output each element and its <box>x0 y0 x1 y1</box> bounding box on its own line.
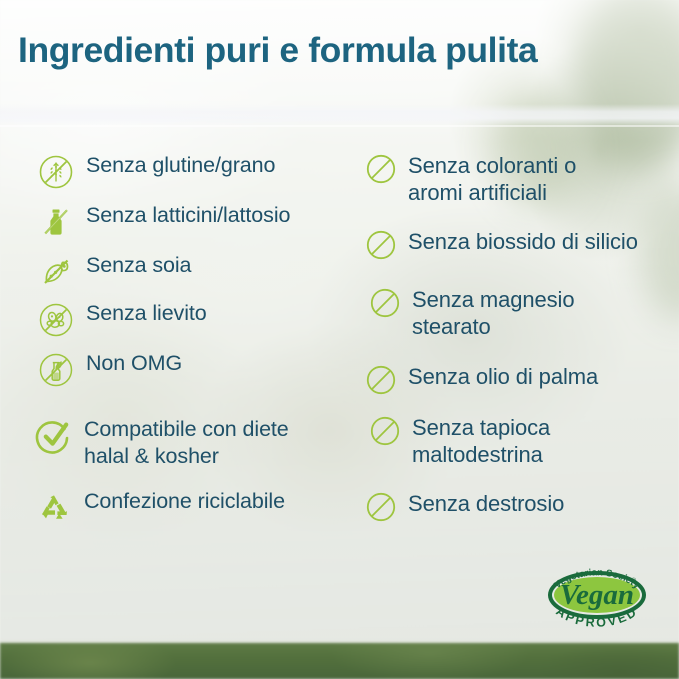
feature-label: Confezione riciclabile <box>84 488 285 515</box>
feature-label: Senza destrosio <box>408 490 564 517</box>
feature-row: Senza tapioca maltodestrina <box>368 414 550 468</box>
feature-row: Senza olio di palma <box>364 363 598 397</box>
feature-label: Senza coloranti o aromi artificiali <box>408 152 576 206</box>
badge-vegan-wordmark: Vegan <box>560 579 634 611</box>
feature-row: Compatibile con diete halal & kosher <box>34 416 289 470</box>
prohibition-icon <box>368 414 402 448</box>
feature-row: Senza biossido di silicio <box>364 228 638 262</box>
content-root: Ingredienti puri e formula pulita <box>0 0 679 679</box>
feature-row: Senza destrosio <box>364 490 564 524</box>
feature-label: Senza magnesio stearato <box>412 286 574 340</box>
vegan-society-approved-badge: Vegetarian Society Vegan ® APPROVED <box>533 558 661 632</box>
no-milk-bottle-icon <box>36 202 76 242</box>
no-wheat-gluten-icon <box>36 152 76 192</box>
feature-row: Senza lievito <box>36 300 207 340</box>
badge-registered-mark: ® <box>631 577 637 585</box>
prohibition-icon <box>364 228 398 262</box>
feature-label: Senza glutine/grano <box>86 152 275 179</box>
feature-row: Senza glutine/grano <box>36 152 275 192</box>
feature-label: Compatibile con diete halal & kosher <box>84 416 289 470</box>
prohibition-icon <box>364 363 398 397</box>
feature-row: Senza latticini/lattosio <box>36 202 290 242</box>
check-circle-icon <box>34 416 74 456</box>
feature-label: Senza tapioca maltodestrina <box>412 414 550 468</box>
feature-label: Senza lievito <box>86 300 207 327</box>
no-yeast-icon <box>36 300 76 340</box>
feature-row: Senza soia <box>36 252 191 292</box>
feature-label: Senza biossido di silicio <box>408 228 638 255</box>
feature-label: Senza latticini/lattosio <box>86 202 290 229</box>
prohibition-icon <box>364 490 398 524</box>
no-soy-icon <box>36 252 76 292</box>
prohibition-icon <box>368 286 402 320</box>
feature-row: Senza magnesio stearato <box>368 286 574 340</box>
feature-label: Non OMG <box>86 350 182 377</box>
feature-row: Confezione riciclabile <box>34 488 285 528</box>
feature-label: Senza soia <box>86 252 191 279</box>
feature-label: Senza olio di palma <box>408 363 598 390</box>
prohibition-icon <box>364 152 398 186</box>
feature-row: Non OMG <box>36 350 182 390</box>
no-gmo-icon <box>36 350 76 390</box>
recycle-icon <box>34 488 74 528</box>
feature-row: Senza coloranti o aromi artificiali <box>364 152 576 206</box>
page-title: Ingredienti puri e formula pulita <box>18 30 537 71</box>
